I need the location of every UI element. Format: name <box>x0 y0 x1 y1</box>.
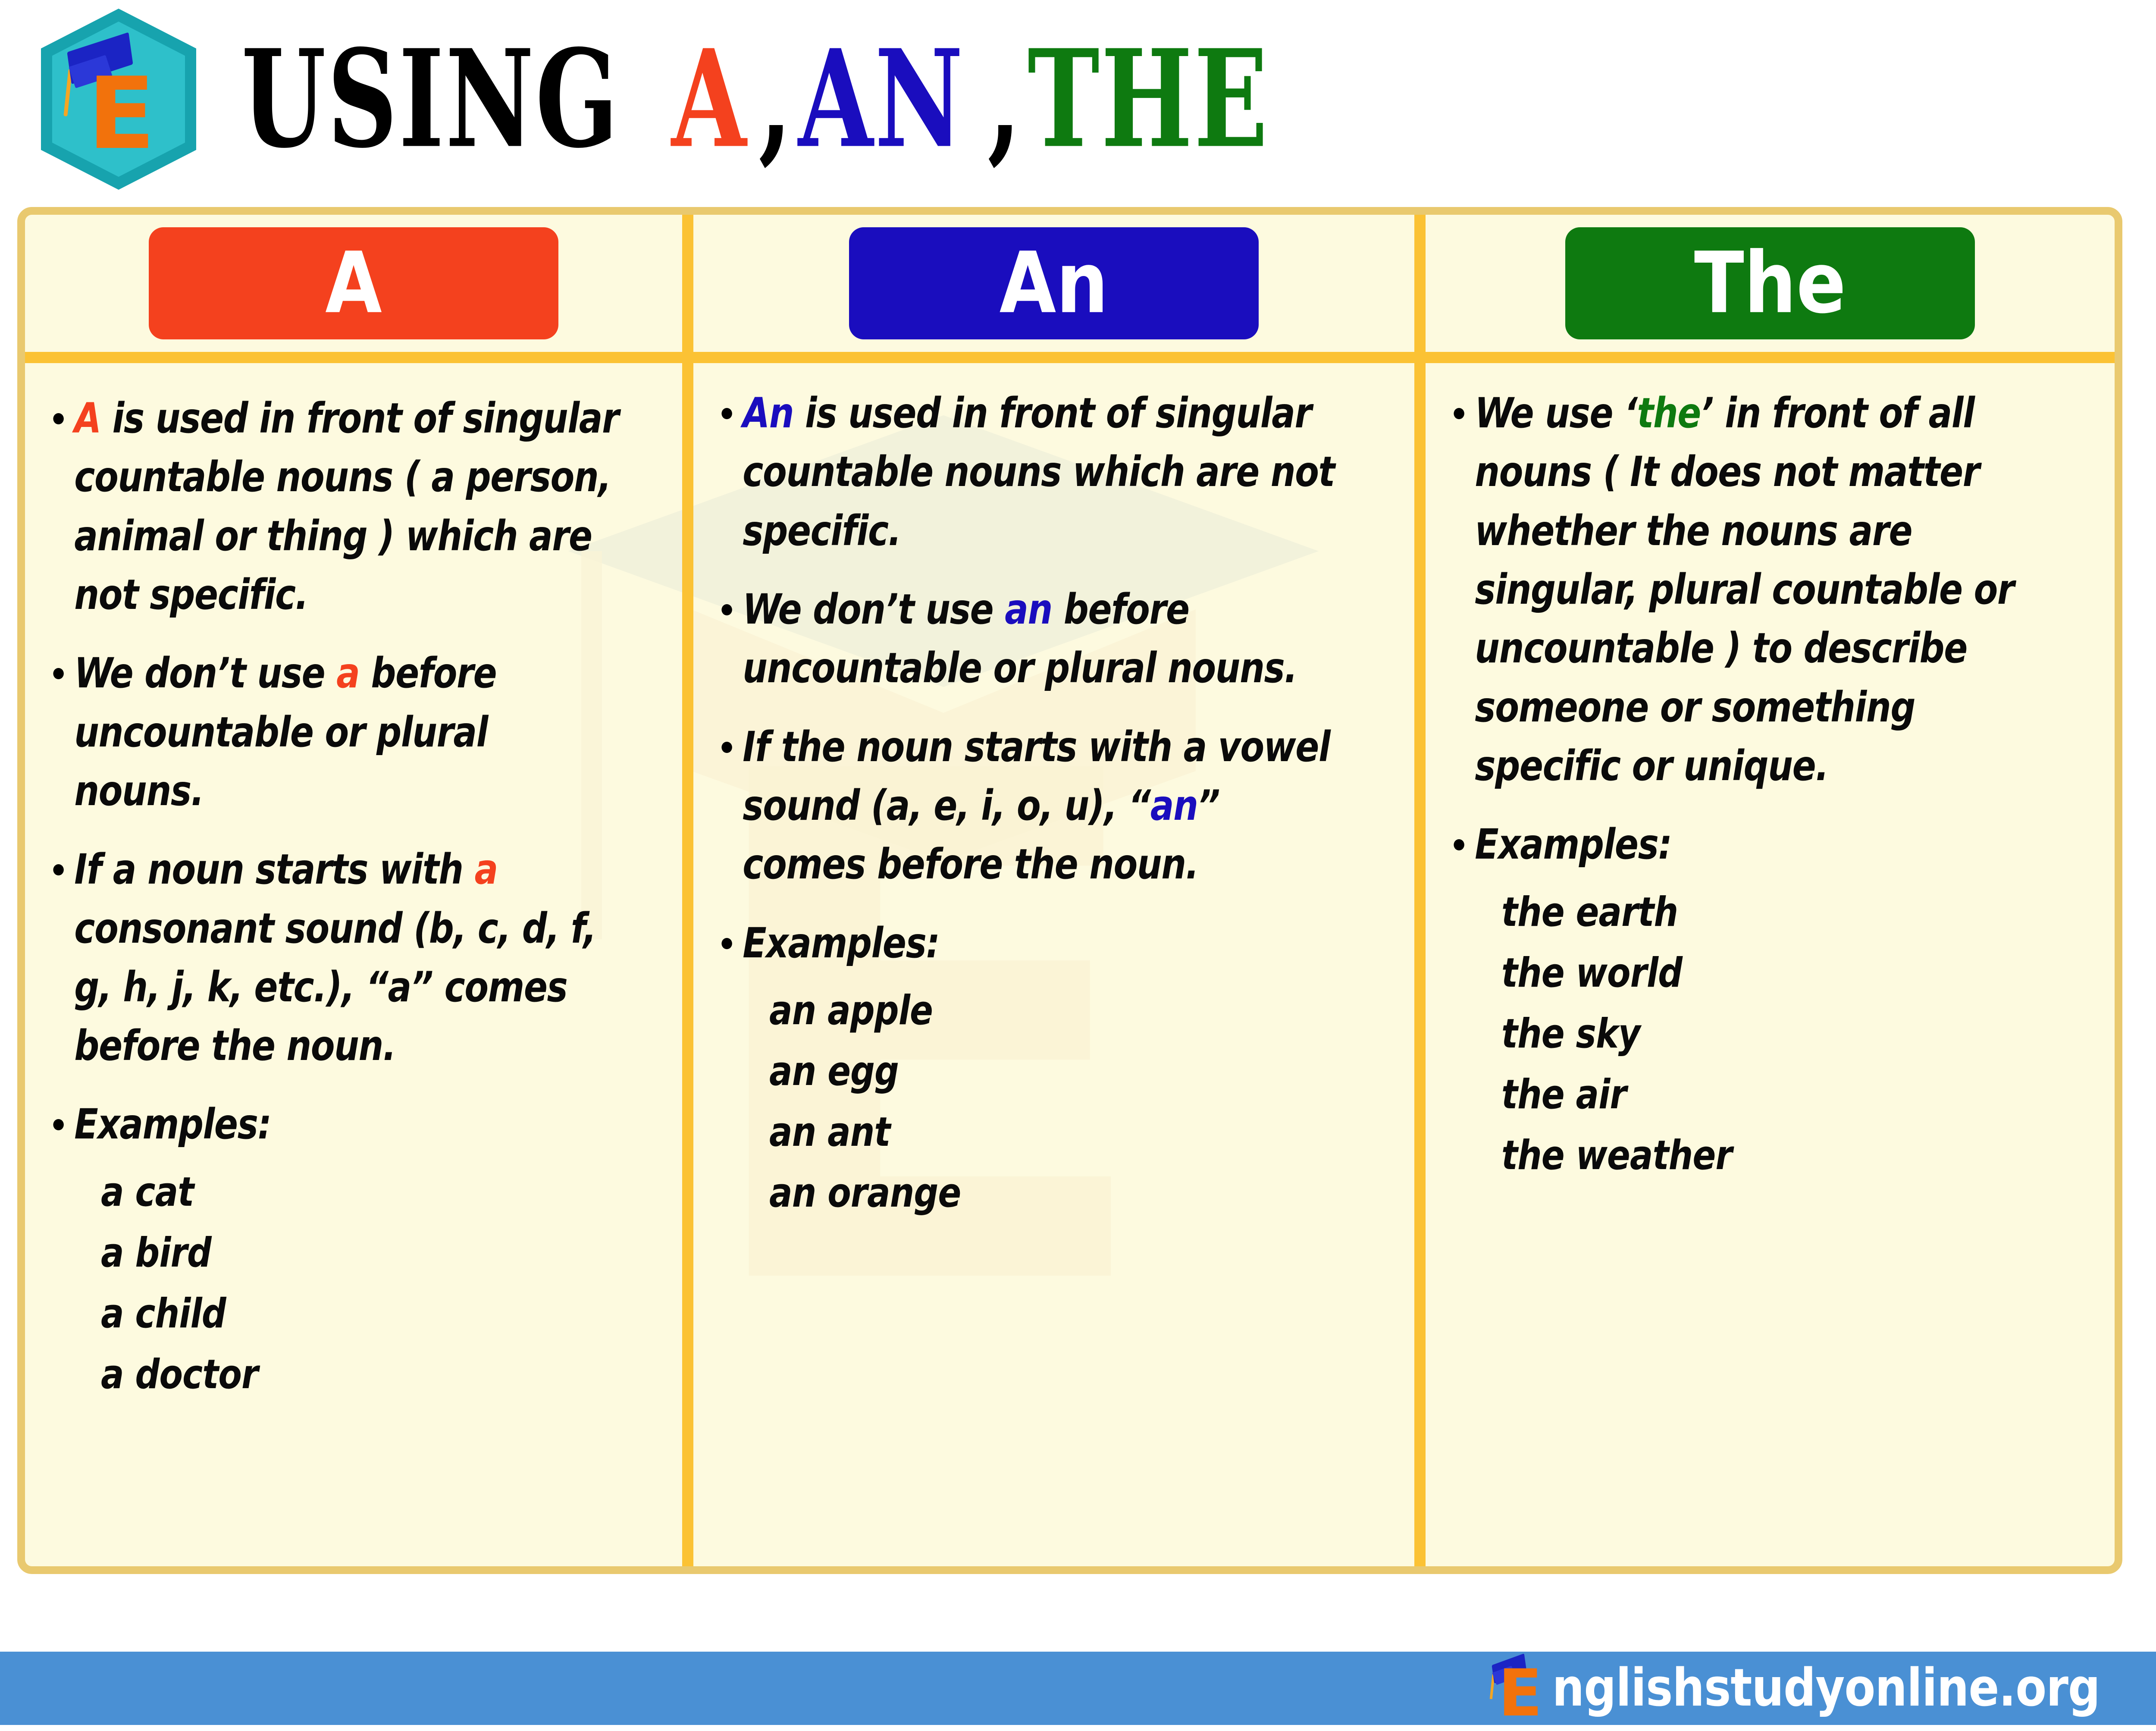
column-an-header-pill: An <box>849 227 1259 339</box>
brand-logo-letter: E <box>88 65 155 164</box>
column-the-header-label: The <box>1694 241 1846 326</box>
column-a-example-list: a cat a bird a child a doctor <box>49 1162 658 1405</box>
list-item: an apple <box>769 980 1353 1041</box>
column-an-body: An is used in front of singular countabl… <box>693 363 1414 1558</box>
rule-text: is used in front of singular countable n… <box>743 389 1335 555</box>
list-item: the weather <box>1501 1125 2055 1186</box>
column-an-header: An <box>693 215 1414 352</box>
column-a-rule-list: A is used in front of singular countable… <box>49 389 658 1154</box>
footer-logo-mark: E <box>1490 1656 1546 1721</box>
accent-text: an <box>1005 585 1052 633</box>
rule-text: is used in front of singular countable n… <box>74 394 618 619</box>
title-word-an: AN <box>798 32 965 166</box>
column-a-header-label: A <box>325 241 382 326</box>
list-item: an ant <box>769 1102 1353 1163</box>
articles-comparison-table: E A A is used in front of singular count… <box>17 207 2122 1574</box>
column-a-body: A is used in front of singular countable… <box>25 363 682 1558</box>
list-item: We don’t use a before uncountable or plu… <box>49 644 621 820</box>
column-the-header: The <box>1426 215 2115 352</box>
column-a-examples-label: Examples: <box>49 1095 621 1154</box>
column-the-header-pill: The <box>1565 227 1975 339</box>
rule-text: ’ in front of all nouns ( It does not ma… <box>1475 389 2014 790</box>
rule-text: consonant sound (b, c, d, f, g, h, j, k,… <box>74 904 596 1070</box>
column-the-examples-label: Examples: <box>1450 815 2052 874</box>
column-an-examples-label: Examples: <box>718 914 1350 972</box>
list-item: a bird <box>101 1223 624 1283</box>
column-an-example-list: an apple an egg an ant an orange <box>718 980 1390 1223</box>
list-item: a doctor <box>101 1344 624 1405</box>
list-item: We use ‘the’ in front of all nouns ( It … <box>1450 384 2052 795</box>
rule-text: We don’t use <box>74 649 336 697</box>
table-column-divider-1 <box>682 215 693 1566</box>
list-item: If a noun starts with a consonant sound … <box>49 840 621 1075</box>
accent-text: a <box>336 649 359 697</box>
column-the-rule-list: We use ‘the’ in front of all nouns ( It … <box>1450 384 2090 874</box>
list-item: the sky <box>1501 1003 2055 1064</box>
list-item: An is used in front of singular countabl… <box>718 384 1350 560</box>
accent-text: a <box>475 845 498 894</box>
title-word-a: A <box>671 32 748 166</box>
title-comma-2: , <box>987 32 1023 166</box>
rule-text: If a noun starts with <box>74 845 474 894</box>
column-the-example-list: the earth the world the sky the air the … <box>1450 882 2090 1186</box>
column-a-header: A <box>25 215 682 352</box>
footer-site-url: nglishstudyonline.org <box>1552 1662 2100 1714</box>
rule-text: We use ‘ <box>1475 389 1637 437</box>
list-item: an egg <box>769 1041 1353 1102</box>
rule-text: If the noun starts with a vowel sound (a… <box>743 723 1330 830</box>
list-item: a child <box>101 1283 624 1344</box>
list-item: We don’t use an before uncountable or pl… <box>718 580 1350 698</box>
accent-text: the <box>1637 389 1700 437</box>
title-comma-1: , <box>758 32 794 166</box>
column-an: An An is used in front of singular count… <box>693 215 1414 1566</box>
title-word-the: THE <box>1028 32 1269 166</box>
column-the-body: We use ‘the’ in front of all nouns ( It … <box>1426 363 2115 1558</box>
table-column-divider-2 <box>1414 215 1426 1566</box>
list-item: If the noun starts with a vowel sound (a… <box>718 718 1350 894</box>
column-a: A A is used in front of singular countab… <box>25 215 682 1566</box>
list-item: the air <box>1501 1064 2055 1125</box>
page-title: USING A , AN , THE <box>241 0 1302 198</box>
column-an-header-label: An <box>1000 241 1109 326</box>
list-item: the world <box>1501 943 2055 1003</box>
accent-text: A <box>74 394 100 442</box>
column-a-header-pill: A <box>149 227 558 339</box>
accent-text: an <box>1150 781 1198 830</box>
footer-brand-logo[interactable]: E nglishstudyonline.org <box>1490 1652 2109 1725</box>
column-the: The We use ‘the’ in front of all nouns (… <box>1426 215 2115 1566</box>
list-item: an orange <box>769 1163 1353 1223</box>
column-an-rule-list: An is used in front of singular countabl… <box>718 384 1390 972</box>
brand-logo-badge: E <box>41 9 196 190</box>
list-item: a cat <box>101 1162 624 1223</box>
page-header: E USING A , AN , THE <box>0 0 2156 198</box>
title-word-using: USING <box>241 32 620 166</box>
list-item: the earth <box>1501 882 2055 943</box>
list-item: A is used in front of singular countable… <box>49 389 621 624</box>
site-footer: E nglishstudyonline.org <box>0 1652 2156 1725</box>
accent-text: An <box>743 389 793 437</box>
footer-logo-letter: E <box>1498 1661 1542 1726</box>
rule-text: We don’t use <box>743 585 1005 633</box>
